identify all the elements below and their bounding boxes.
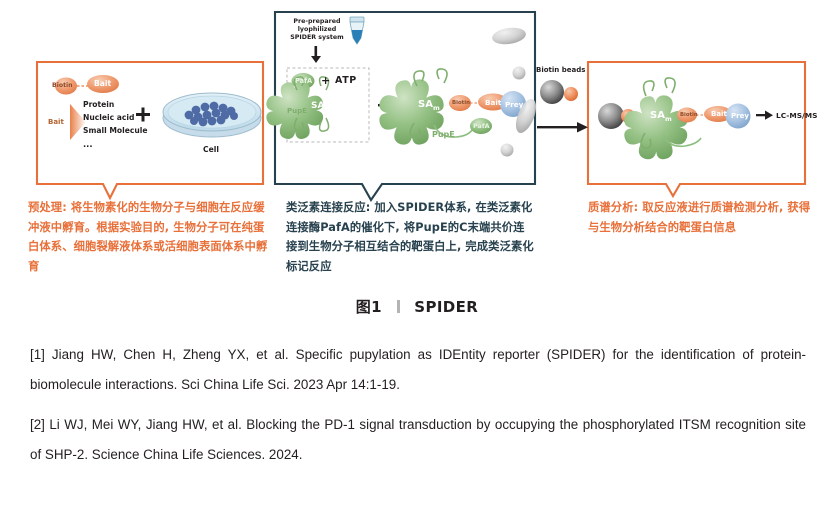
pupe-label: PupE	[287, 107, 307, 115]
references-list: [1] Jiang HW, Chen H, Zheng YX, et al. S…	[30, 340, 806, 470]
product-prey-label: Prey	[505, 100, 523, 109]
figure-name: SPIDER	[414, 298, 478, 316]
biomolecule-nucleic-acid-label: Nucleic acid	[83, 113, 134, 122]
caption-pretreatment: 预处理: 将生物素化的生物分子与细胞在反应缓冲液中孵育。根据实验目的, 生物分子…	[28, 198, 273, 276]
panel3-bead-icon	[598, 103, 624, 129]
sam-label: SAm	[311, 101, 331, 113]
product-biotin-label: Biotin	[452, 100, 470, 106]
product-bait-label: Bait	[485, 98, 501, 107]
panel3-sam-label: SAm	[650, 110, 672, 123]
bait-wedge-label: Bait	[48, 118, 64, 126]
panel3-biotin-label: Biotin	[680, 112, 698, 118]
figure-title: 图1 SPIDER	[0, 296, 834, 317]
cell-label: Cell	[203, 145, 219, 154]
panel-3-outline	[588, 62, 805, 196]
caption-pupylation: 类泛素连接反应: 加入SPIDER体系, 在类泛素化连接酶PafA的催化下, 将…	[286, 198, 534, 276]
figure-svg	[0, 0, 834, 200]
petri-dish-icon	[163, 93, 261, 137]
tube-caption-label: Pre-prepared lyophilized SPIDER system	[286, 18, 348, 42]
biomolecule-protein-label: Protein	[83, 100, 114, 109]
pafa-label: PafA	[295, 77, 312, 85]
panel3-bait-label: Bait	[711, 110, 727, 118]
figure-illustration: Biotin Bait Bait Protein Nucleic acid Sm…	[0, 0, 834, 290]
product-pafa-label: PafA	[473, 122, 490, 130]
panel3-prey-label: Prey	[731, 112, 749, 120]
lc-msms-label: LC-MS/MS	[776, 111, 817, 120]
figure-root: Biotin Bait Bait Protein Nucleic acid Sm…	[0, 0, 834, 522]
product-pupe-label: PupE	[432, 130, 455, 139]
reference-item-1: [1] Jiang HW, Chen H, Zheng YX, et al. S…	[30, 340, 806, 400]
biotin-label: Biotin	[52, 82, 73, 89]
biotin-beads-label: Biotin beads	[536, 66, 585, 74]
biotin-beads-group	[537, 80, 588, 133]
bait-tag-label: Bait	[94, 79, 111, 88]
biomolecule-ellipsis-label: ...	[83, 139, 93, 149]
biomolecule-small-molecule-label: Small Molecule	[83, 126, 148, 135]
product-sam-label: SAm	[418, 99, 440, 112]
reference-item-2: [2] Li WJ, Mei WY, Jiang HW, et al. Bloc…	[30, 410, 806, 470]
biotin-bead-large-icon	[540, 80, 564, 104]
atp-label: ATP	[335, 75, 357, 86]
plus-label: +	[321, 74, 330, 87]
title-separator-bar	[397, 300, 400, 313]
caption-ms-analysis: 质谱分析: 取反应液进行质谱检测分析, 获得与生物分析结合的靶蛋白信息	[588, 198, 818, 237]
arrow-right-to-panel3-icon	[537, 122, 588, 133]
biotin-bead-small-icon	[564, 87, 578, 101]
figure-number: 图1	[356, 298, 382, 316]
